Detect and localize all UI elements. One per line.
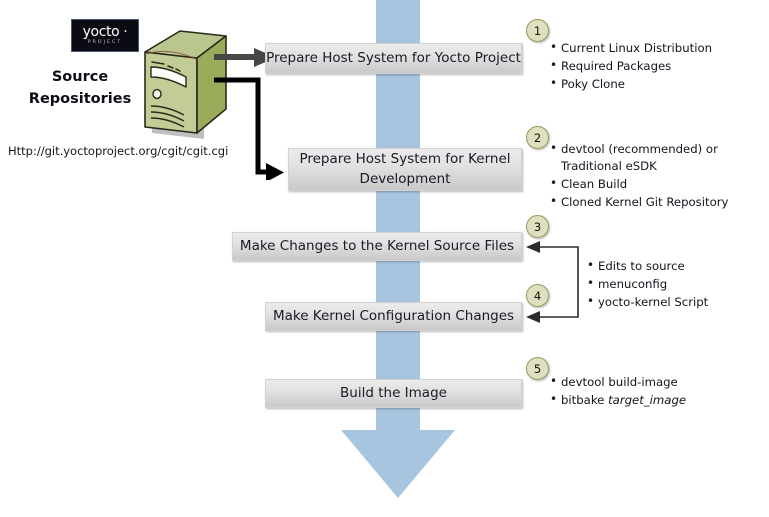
note-item: bitbake target_image	[561, 392, 686, 409]
note-item: menuconfig	[598, 276, 708, 293]
source-label-line1: Source	[10, 67, 150, 89]
yocto-project-logo: yocto · PROJECT	[71, 19, 139, 52]
step2-label-line1: Prepare Host System for Kernel	[299, 150, 510, 170]
note-item: Cloned Kernel Git Repository	[561, 194, 748, 211]
logo-wordmark: yocto ·	[83, 25, 128, 39]
step-box-build-the-image[interactable]: Build the Image	[265, 379, 522, 408]
source-repositories-label: Source Repositories	[10, 67, 150, 111]
note-bitbake-prefix: bitbake	[561, 393, 608, 407]
step-notes-1: Current Linux Distribution Required Pack…	[548, 40, 712, 94]
shared-notes-steps-3-4: Edits to source menuconfig yocto-kernel …	[585, 258, 708, 312]
note-item: devtool build-image	[561, 374, 686, 391]
step-box-prepare-host-yocto[interactable]: Prepare Host System for Yocto Project	[265, 43, 522, 74]
step-box-prepare-host-kernel[interactable]: Prepare Host System for Kernel Developme…	[288, 148, 522, 191]
step-box-make-kernel-config-changes[interactable]: Make Kernel Configuration Changes	[265, 302, 522, 331]
step-notes-5: devtool build-image bitbake target_image	[548, 374, 686, 410]
step-box-make-kernel-source-changes[interactable]: Make Changes to the Kernel Source Files	[232, 232, 522, 261]
diagram-canvas: yocto · PROJECT Source Repositories Http…	[0, 0, 769, 517]
step-badge-1: 1	[526, 19, 549, 42]
source-repository-url: Http://git.yoctoproject.org/cgit/cgit.cg…	[8, 144, 228, 158]
note-item: Current Linux Distribution	[561, 40, 712, 57]
note-bitbake-target: target_image	[608, 393, 686, 407]
flow-arrowhead-icon	[341, 430, 455, 498]
note-item: yocto-kernel Script	[598, 294, 708, 311]
step2-label-line2: Development	[360, 170, 451, 190]
note-item: Edits to source	[598, 258, 708, 275]
note-item: Clean Build	[561, 176, 748, 193]
source-label-line2: Repositories	[10, 89, 150, 111]
note-item: Poky Clone	[561, 76, 712, 93]
note-item: devtool (recommended) or Traditional eSD…	[561, 141, 748, 175]
step-badge-3: 3	[526, 215, 549, 238]
connector-server-to-step2	[214, 76, 286, 184]
connector-bracket-steps-3-4	[522, 236, 588, 332]
step-notes-2: devtool (recommended) or Traditional eSD…	[548, 141, 748, 212]
logo-subtext: PROJECT	[88, 41, 123, 46]
note-item: Required Packages	[561, 58, 712, 75]
step-badge-5: 5	[526, 357, 549, 380]
step-badge-2: 2	[526, 126, 549, 149]
